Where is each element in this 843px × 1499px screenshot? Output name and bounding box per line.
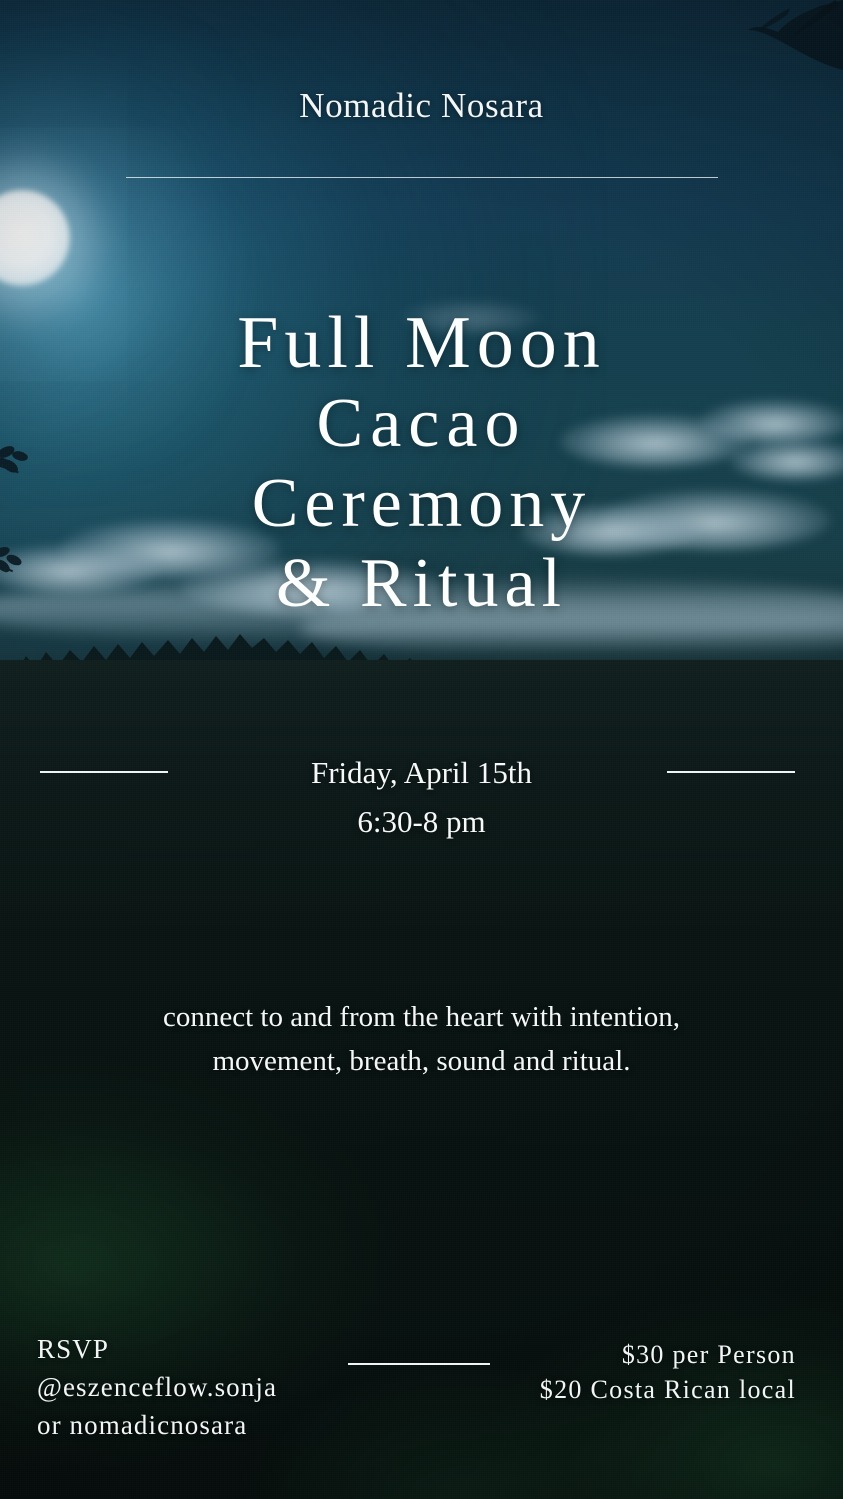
event-datetime: Friday, April 15th 6:30-8 pm — [0, 748, 843, 846]
brand-divider — [126, 177, 718, 178]
price-standard: $30 per Person — [540, 1337, 796, 1372]
footer-divider — [348, 1363, 490, 1365]
rsvp-block: RSVP @eszenceflow.sonja or nomadicnosara — [37, 1330, 277, 1444]
pricing-block: $30 per Person $20 Costa Rican local — [540, 1337, 796, 1407]
title-line-1: Full Moon — [0, 306, 843, 380]
price-local: $20 Costa Rican local — [540, 1372, 796, 1407]
brand-name: Nomadic Nosara — [0, 86, 843, 126]
description-line-1: connect to and from the heart with inten… — [0, 995, 843, 1039]
poster-footer: RSVP @eszenceflow.sonja or nomadicnosara… — [0, 1330, 843, 1470]
title-line-3: Ceremony — [0, 468, 843, 540]
event-date: Friday, April 15th — [0, 748, 843, 797]
title-line-2: Cacao — [0, 388, 843, 460]
description-line-2: movement, breath, sound and ritual. — [0, 1039, 843, 1083]
event-description: connect to and from the heart with inten… — [0, 995, 843, 1083]
rsvp-handle-secondary[interactable]: or nomadicnosara — [37, 1406, 277, 1444]
poster-content: Nomadic Nosara Full Moon Cacao Ceremony … — [0, 0, 843, 1499]
event-title: Full Moon Cacao Ceremony & Ritual — [0, 306, 843, 628]
poster-canvas: Nomadic Nosara Full Moon Cacao Ceremony … — [0, 0, 843, 1499]
rsvp-handle-primary[interactable]: @eszenceflow.sonja — [37, 1368, 277, 1406]
title-line-4: & Ritual — [0, 548, 843, 620]
event-time: 6:30-8 pm — [0, 797, 843, 846]
rsvp-label: RSVP — [37, 1330, 277, 1368]
